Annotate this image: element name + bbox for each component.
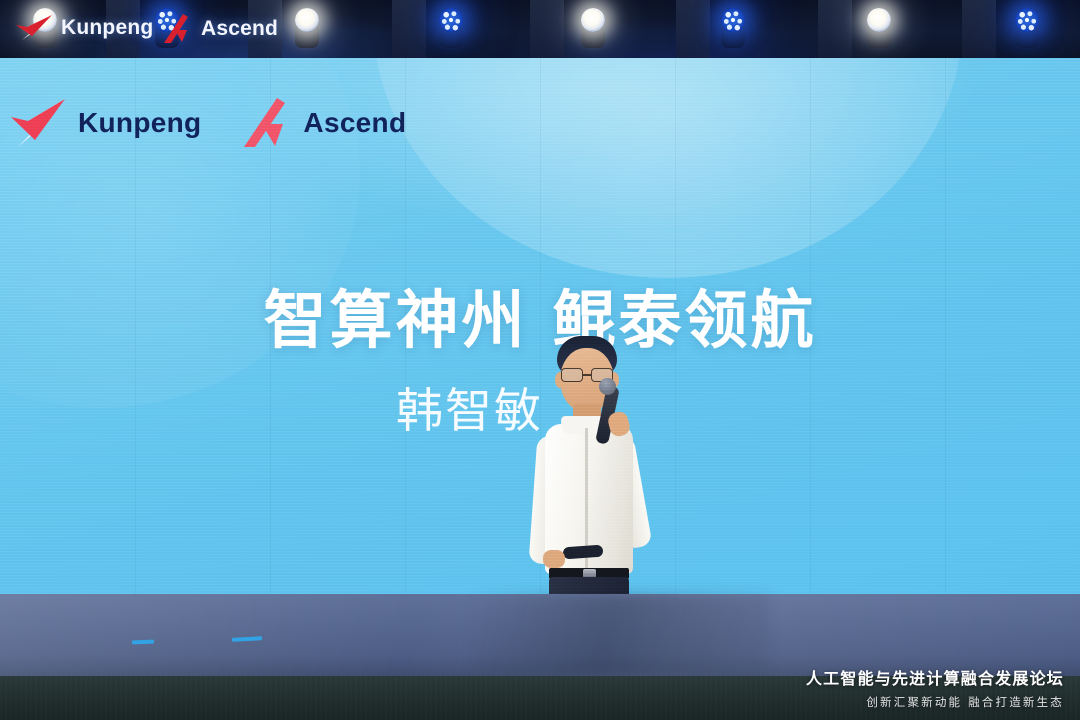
ceiling-ascend-logo: Ascend xyxy=(160,14,278,44)
screen-kunpeng-logo: Kunpeng xyxy=(8,95,201,151)
ceiling-ascend-label: Ascend xyxy=(201,17,278,41)
ascend-a-icon xyxy=(160,14,194,44)
stage-marker-tape xyxy=(132,640,154,645)
blue-led-wash-light xyxy=(434,4,468,50)
blue-led-wash-light xyxy=(1010,4,1044,50)
white-spot-light xyxy=(576,4,610,50)
kunpeng-bird-icon xyxy=(14,14,54,42)
screen-circle-motif xyxy=(373,58,963,278)
screen-kunpeng-label: Kunpeng xyxy=(78,107,201,139)
stage-shadow xyxy=(470,594,770,676)
ceiling-truss-band: Kunpeng Ascend xyxy=(0,0,1080,58)
stage-photo-scene: Kunpeng Ascend Kunp xyxy=(0,0,1080,720)
screen-ascend-label: Ascend xyxy=(303,107,406,139)
kunpeng-bird-icon xyxy=(8,95,68,151)
screen-ascend-logo: Ascend xyxy=(237,95,406,151)
blue-led-wash-light xyxy=(716,4,750,50)
forum-subtitle: 创新汇聚新动能 融合打造新生态 xyxy=(806,694,1064,710)
ascend-a-icon xyxy=(237,95,293,151)
speaker-trousers xyxy=(549,577,629,594)
white-spot-light xyxy=(862,4,896,50)
speaker-hand-left xyxy=(543,550,565,568)
forum-watermark: 人工智能与先进计算融合发展论坛 创新汇聚新动能 融合打造新生态 xyxy=(806,665,1064,710)
speaker-figure xyxy=(505,336,670,594)
white-spot-light xyxy=(290,4,324,50)
ceiling-kunpeng-logo: Kunpeng xyxy=(14,14,153,42)
screen-logo-row: Kunpeng Ascend xyxy=(8,95,406,151)
led-screen: Kunpeng Ascend 智算神州 鲲泰领航 韩智敏 xyxy=(0,58,1080,594)
forum-title: 人工智能与先进计算融合发展论坛 xyxy=(806,665,1064,689)
ceiling-kunpeng-label: Kunpeng xyxy=(61,16,153,40)
